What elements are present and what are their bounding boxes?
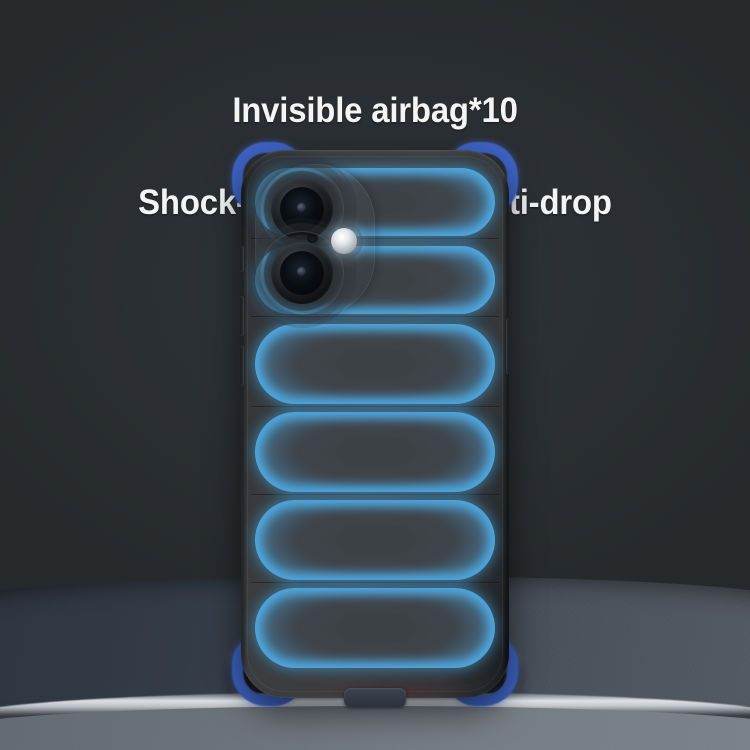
pedestal-front-texture: [0, 706, 750, 750]
case-inner-rim: [247, 156, 503, 692]
volume-down-button[interactable]: [239, 346, 244, 386]
headline-line-1: Invisible airbag*10: [23, 88, 728, 134]
case-body: [241, 150, 509, 698]
action-button[interactable]: [239, 246, 244, 272]
phone-case-product: [241, 150, 509, 698]
product-hero-image: Invisible airbag*10 Shock-absorbing anda…: [0, 0, 750, 750]
volume-up-button[interactable]: [239, 296, 244, 336]
power-button[interactable]: [506, 318, 511, 374]
charging-port-cutout: [344, 688, 406, 707]
case-right-edge: [502, 176, 509, 672]
